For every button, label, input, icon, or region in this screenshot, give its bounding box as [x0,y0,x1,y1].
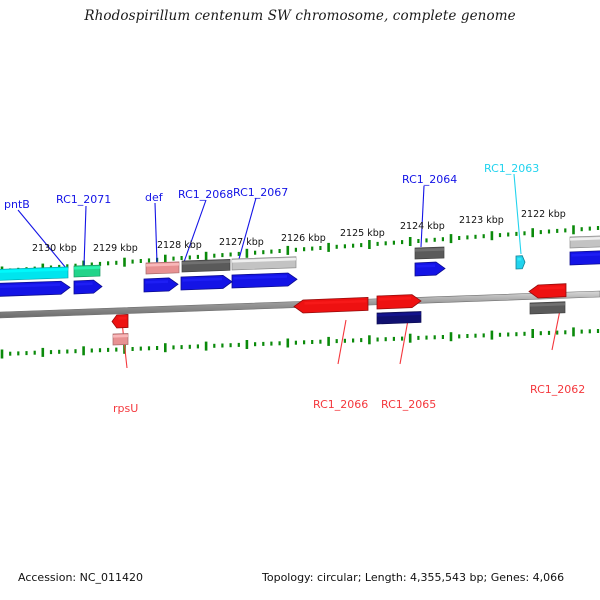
label-leader-line [400,320,408,364]
scale-ticks-lower [1,327,599,358]
scale-tick-minor [115,261,117,265]
scale-tick-major [531,329,534,338]
scale-tick-minor [262,250,264,254]
scale-tick-minor [466,334,468,338]
scale-tick-minor [172,345,174,349]
scale-tick-minor [238,343,240,347]
gene-label-rc1_2063[interactable]: RC1_2063 [484,162,539,175]
scale-tick-minor [230,253,232,257]
scale-tick-minor [9,352,11,356]
scale-label: 2128 kbp [157,240,202,251]
gene-shapes[interactable] [0,235,600,345]
scale-tick-minor [172,257,174,261]
scale-tick-minor [515,332,517,336]
scale-tick-major [572,327,575,336]
gene-arrow-forward[interactable] [570,251,600,265]
gene-label-rc1_2068[interactable]: RC1_2068 [178,188,233,201]
scale-tick-minor [270,250,272,254]
scale-tick-major [205,342,208,351]
scale-tick-major [491,231,494,240]
gene-arrow-reverse[interactable] [377,295,421,309]
gene-arrow-reverse[interactable] [294,297,368,313]
gene-arrow-forward[interactable] [144,278,178,292]
scale-tick-minor [295,248,297,252]
scale-tick-major [450,234,453,243]
scale-tick-minor [311,340,313,344]
scale-tick-minor [197,344,199,348]
scale-tick-major [123,258,126,267]
scale-tick-minor [148,346,150,350]
scale-tick-major [572,225,575,234]
scale-tick-minor [434,335,436,339]
scale-tick-minor [295,341,297,345]
scale-tick-minor [181,256,183,260]
scale-tick-minor [213,344,215,348]
gene-label-def[interactable]: def [145,191,163,204]
gene-label-rc1_2071[interactable]: RC1_2071 [56,193,111,206]
scale-tick-minor [74,349,76,353]
scale-tick-major [327,243,330,252]
scale-tick-major [491,331,494,340]
label-leader-line [18,210,66,268]
scale-tick-minor [417,336,419,340]
scale-tick-minor [221,344,223,348]
gene-label-rc1_2064[interactable]: RC1_2064 [402,173,457,186]
scale-tick-minor [230,343,232,347]
scale-label: 2125 kbp [340,228,385,239]
gene-cap-highlight [113,334,128,337]
scale-tick-minor [474,235,476,239]
scale-tick-minor [17,351,19,355]
scale-tick-minor [523,231,525,235]
scale-tick-major [164,343,167,352]
scale-tick-minor [221,253,223,257]
scale-tick-minor [140,347,142,351]
scale-tick-minor [336,339,338,343]
gene-arrow-reverse[interactable] [529,284,566,298]
scale-tick-major [246,340,249,349]
scale-tick-minor [556,331,558,335]
scale-tick-minor [360,243,362,247]
scale-tick-minor [597,329,599,333]
scale-tick-major [287,246,290,255]
scale-tick-minor [425,336,427,340]
scale-tick-minor [401,337,403,341]
scale-tick-minor [385,337,387,341]
gene-arrow-highlight [518,258,522,261]
scale-tick-minor [262,342,264,346]
scale-label: 2123 kbp [459,215,504,226]
scale-tick-minor [148,258,150,262]
gene-label-rc1_2066[interactable]: RC1_2066 [313,398,368,411]
scale-tick-minor [417,239,419,243]
scale-tick-minor [483,333,485,337]
gene-label-rc1_2065[interactable]: RC1_2065 [381,398,436,411]
scale-tick-minor [442,335,444,339]
scale-tick-minor [581,227,583,231]
label-leader-line [155,203,157,263]
scale-tick-minor [50,350,52,354]
label-leader-line [552,310,560,350]
scale-tick-minor [197,255,199,259]
gene-arrow-forward[interactable] [74,280,102,294]
gene-arrow-forward[interactable] [516,256,525,269]
scale-tick-minor [115,348,117,352]
scale-tick-minor [319,246,321,250]
gene-label-rc1_2067[interactable]: RC1_2067 [233,186,288,199]
scale-tick-minor [385,241,387,245]
scale-tick-major [450,332,453,341]
scale-tick-major [409,334,412,343]
scale-tick-minor [344,339,346,343]
scale-tick-minor [434,238,436,242]
scale-tick-minor [507,333,509,337]
label-leader-line [514,174,521,254]
scale-tick-minor [564,228,566,232]
scale-tick-minor [336,245,338,249]
scale-tick-minor [107,348,109,352]
scale-tick-minor [132,260,134,264]
scale-tick-minor [279,249,281,253]
scale-tick-minor [474,334,476,338]
gene-arrow-forward[interactable] [415,262,445,276]
scale-tick-minor [319,340,321,344]
scale-tick-major [205,252,208,261]
gene-arrow-highlight [118,317,126,320]
label-leader-line [84,206,86,266]
scale-tick-major [368,335,371,344]
scale-tick-minor [352,339,354,343]
scale-tick-minor [352,244,354,248]
scale-tick-minor [377,242,379,246]
scale-tick-minor [393,337,395,341]
scale-tick-minor [499,233,501,237]
scale-tick-minor [377,338,379,342]
scale-tick-minor [548,230,550,234]
scale-tick-major [531,228,534,237]
scale-label: 2127 kbp [219,237,264,248]
scale-tick-minor [132,347,134,351]
scale-tick-minor [156,346,158,350]
scale-tick-minor [107,261,109,265]
scale-tick-major [368,240,371,249]
scale-tick-minor [66,350,68,354]
scale-tick-minor [91,349,93,353]
scale-tick-major [409,237,412,246]
scale-tick-minor [140,259,142,263]
gene-arrow-forward[interactable] [232,273,297,288]
genome-summary-text: Topology: circular; Length: 4,355,543 bp… [262,571,564,584]
scale-tick-major [287,339,290,348]
gene-label-rpsu[interactable]: rpsU [113,402,138,415]
gene-arrow-reverse[interactable] [112,314,128,328]
scale-tick-minor [483,234,485,238]
scale-tick-minor [425,238,427,242]
scale-tick-minor [344,244,346,248]
scale-tick-minor [564,330,566,334]
scale-tick-minor [401,240,403,244]
scale-tick-minor [589,227,591,231]
scale-tick-major [327,337,330,346]
scale-tick-minor [25,351,27,355]
scale-tick-minor [393,241,395,245]
genome-map-viewer: Rhodospirillum centenum SW chromosome, c… [0,0,600,600]
gene-label-rc1_2062[interactable]: RC1_2062 [530,383,585,396]
scale-tick-minor [581,330,583,334]
label-leader-line [184,200,206,262]
scale-label: 2124 kbp [400,221,445,232]
scale-tick-minor [254,251,256,255]
accession-text: Accession: NC_011420 [18,571,143,584]
scale-tick-minor [507,233,509,237]
scale-tick-minor [360,338,362,342]
scale-tick-minor [458,334,460,338]
scale-tick-minor [303,247,305,251]
scale-tick-minor [58,350,60,354]
scale-label: 2130 kbp [32,243,77,254]
gene-label-pntb[interactable]: pntB [4,198,30,211]
scale-tick-minor [181,345,183,349]
scale-tick-minor [466,235,468,239]
scale-tick-major [82,346,85,355]
scale-tick-major [1,350,4,359]
scale-tick-minor [442,237,444,241]
scale-tick-minor [589,329,591,333]
gene-arrow-forward[interactable] [181,275,232,290]
scale-tick-major [42,348,45,357]
genome-map-canvas [0,0,600,600]
scale-tick-minor [189,256,191,260]
scale-tick-minor [499,333,501,337]
scale-tick-minor [279,341,281,345]
scale-tick-minor [189,345,191,349]
scale-label: 2129 kbp [93,243,138,254]
scale-tick-minor [515,232,517,236]
scale-tick-minor [458,236,460,240]
scale-tick-minor [556,229,558,233]
scale-tick-minor [213,254,215,258]
scale-tick-minor [540,331,542,335]
scale-label: 2122 kbp [521,209,566,220]
scale-tick-minor [311,247,313,251]
scale-tick-minor [254,342,256,346]
scale-tick-minor [99,348,101,352]
scale-tick-minor [548,331,550,335]
scale-tick-minor [523,332,525,336]
scale-tick-major [246,249,249,258]
scale-tick-minor [540,230,542,234]
scale-label: 2126 kbp [281,233,326,244]
scale-tick-minor [34,351,36,355]
scale-tick-minor [303,340,305,344]
scale-tick-minor [270,342,272,346]
scale-tick-minor [597,226,599,230]
label-leader-line [421,186,424,247]
